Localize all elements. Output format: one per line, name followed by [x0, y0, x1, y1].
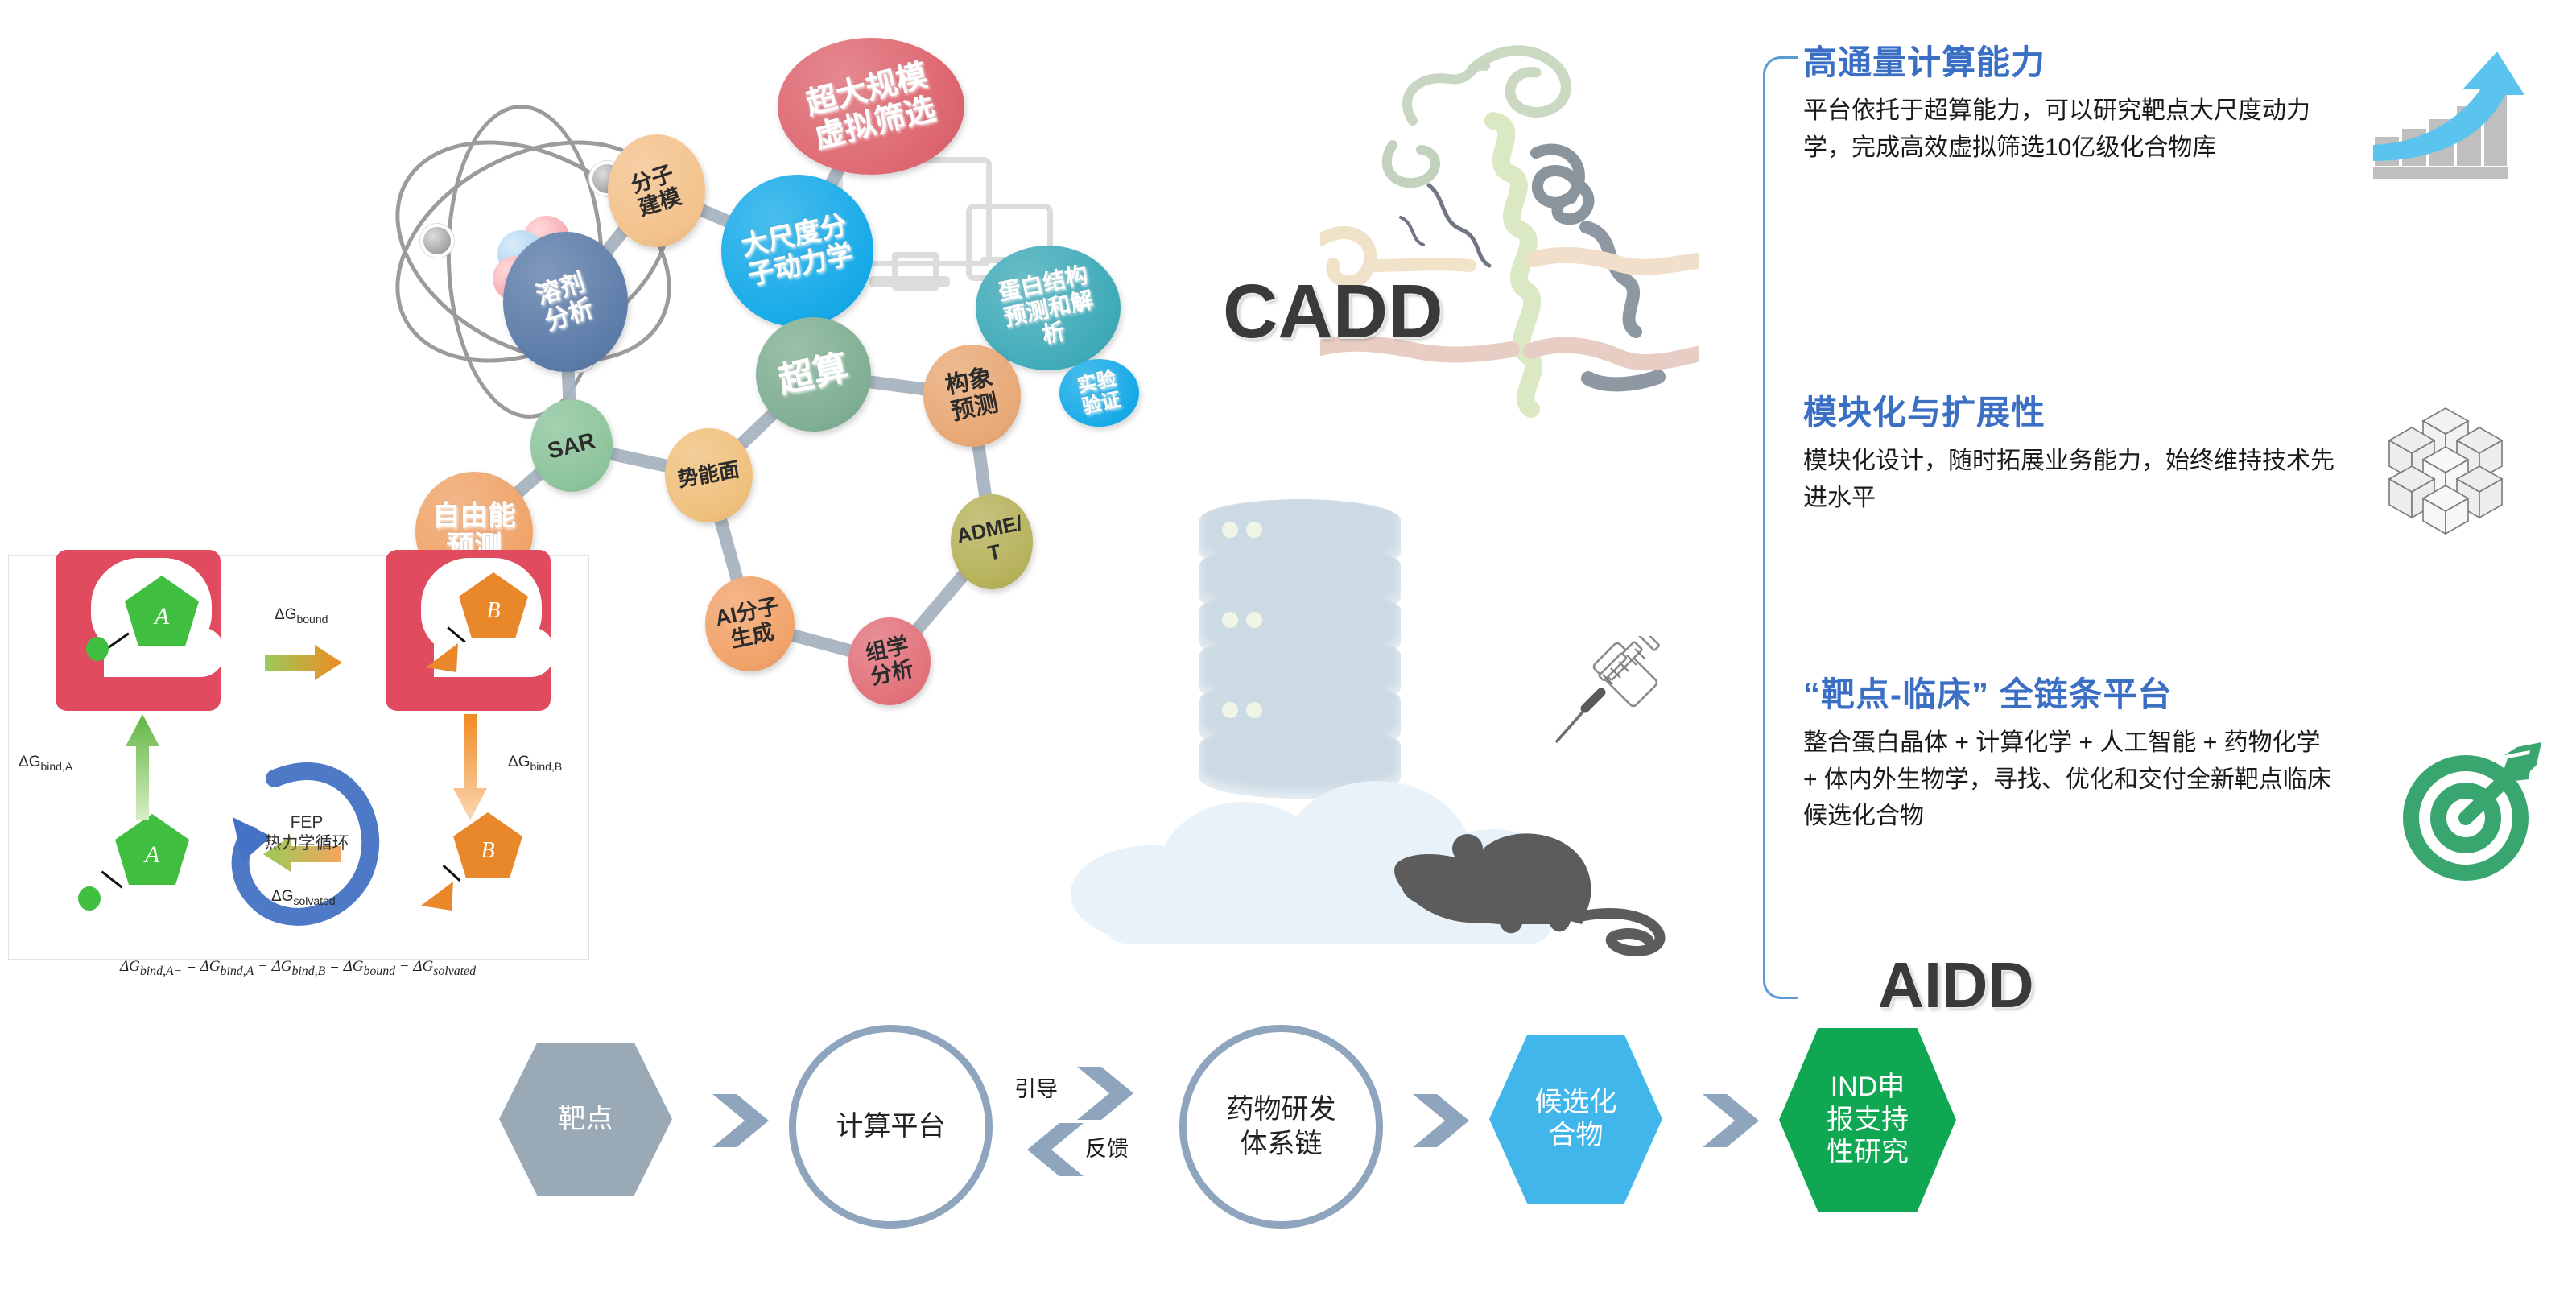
label-dg-bound: ΔGbound [275, 606, 328, 626]
feature-body: 整合蛋白晶体 + 计算化学 + 人工智能 + 药物化学 + 体内外生物学，寻找、… [1803, 725, 2334, 835]
fep-formula: ΔGbind,A− = ΔGbind,A − ΔGbind,B = ΔGboun… [8, 958, 588, 979]
ligand-a-free-atom [78, 886, 101, 911]
network-center-label: CADD [1223, 268, 1443, 356]
fep-label-line1: FEP [250, 812, 363, 833]
feature-block-throughput: 高通量计算能力 平台依托于超算能力，可以研究靶点大尺度动力学，完成高效虚拟筛选1… [1803, 44, 2334, 166]
cubes-icon [2375, 390, 2536, 539]
label-dg-bind-b: ΔGbind,B [508, 754, 562, 773]
arrow-bind-b-down [453, 714, 487, 824]
ligand-b-free-triangle [419, 882, 455, 919]
label-dg-bind-a: ΔGbind,A [19, 754, 72, 773]
ligand-a-atom [86, 637, 109, 661]
fep-label-line2: 热力学循环 [250, 833, 363, 854]
ligand-a-free-shape: A [112, 812, 192, 894]
feature-title: 模块化与扩展性 [1803, 394, 2334, 432]
ligand-a-shape: A [122, 574, 202, 655]
ligand-b-letter: B [481, 838, 494, 863]
flow-arrow-icon [1413, 1089, 1482, 1156]
flow-step-target[interactable]: 靶点 [499, 1043, 672, 1196]
ligand-b-triangle [424, 643, 460, 681]
flow-label-forward: 引导 [1014, 1072, 1058, 1103]
flow-step-ind-study[interactable]: IND申 报支持 性研究 [1779, 1028, 1956, 1212]
growth-chart-icon [2367, 48, 2528, 189]
feature-title: 高通量计算能力 [1803, 44, 2334, 81]
process-flow: 靶点 计算平台 引导 反馈 药物研发 体系链 候选化 合物 IND申 报支持 性… [499, 1010, 2149, 1252]
fep-thermodynamic-cycle-panel: A B A B [8, 555, 589, 960]
arrow-bind-a-up [126, 714, 159, 824]
flow-arrow-icon [1703, 1089, 1772, 1156]
flow-step-compute-platform[interactable]: 计算平台 [789, 1025, 993, 1229]
fep-center-label: FEP 热力学循环 [250, 812, 363, 855]
flow-step-candidate-compound[interactable]: 候选化 合物 [1489, 1035, 1662, 1204]
feature-block-full-chain: “靶点-临床” 全链条平台 整合蛋白晶体 + 计算化学 + 人工智能 + 药物化… [1803, 676, 2334, 835]
feature-title: “靶点-临床” 全链条平台 [1803, 676, 2334, 713]
label-dg-solvated: ΔGsolvated [271, 888, 336, 907]
flow-arrow-backward-icon [1014, 1120, 1084, 1183]
ligand-b-letter: B [486, 598, 500, 623]
ligand-a-letter: A [153, 603, 170, 630]
ligand-a-letter: A [143, 841, 160, 868]
flow-arrow-icon [712, 1089, 782, 1156]
arrow-bound-right [265, 645, 342, 684]
flow-step-rd-chain[interactable]: 药物研发 体系链 [1179, 1025, 1383, 1229]
feature-block-modularity: 模块化与扩展性 模块化设计，随时拓展业务能力，始终维持技术先进水平 [1803, 394, 2334, 516]
flow-label-backward: 反馈 [1085, 1131, 1129, 1163]
panel-bracket [1763, 56, 1798, 999]
flow-arrow-forward-icon [1077, 1063, 1146, 1127]
feature-body: 平台依托于超算能力，可以研究靶点大尺度动力学，完成高效虚拟筛选10亿级化合物库 [1803, 93, 2334, 166]
ligand-b-shape: B [456, 571, 531, 647]
feature-body: 模块化设计，随时拓展业务能力，始终维持技术先进水平 [1803, 443, 2334, 516]
target-icon [2395, 733, 2548, 890]
feature-panel: 高通量计算能力 平台依托于超算能力，可以研究靶点大尺度动力学，完成高效虚拟筛选1… [1763, 36, 2568, 994]
